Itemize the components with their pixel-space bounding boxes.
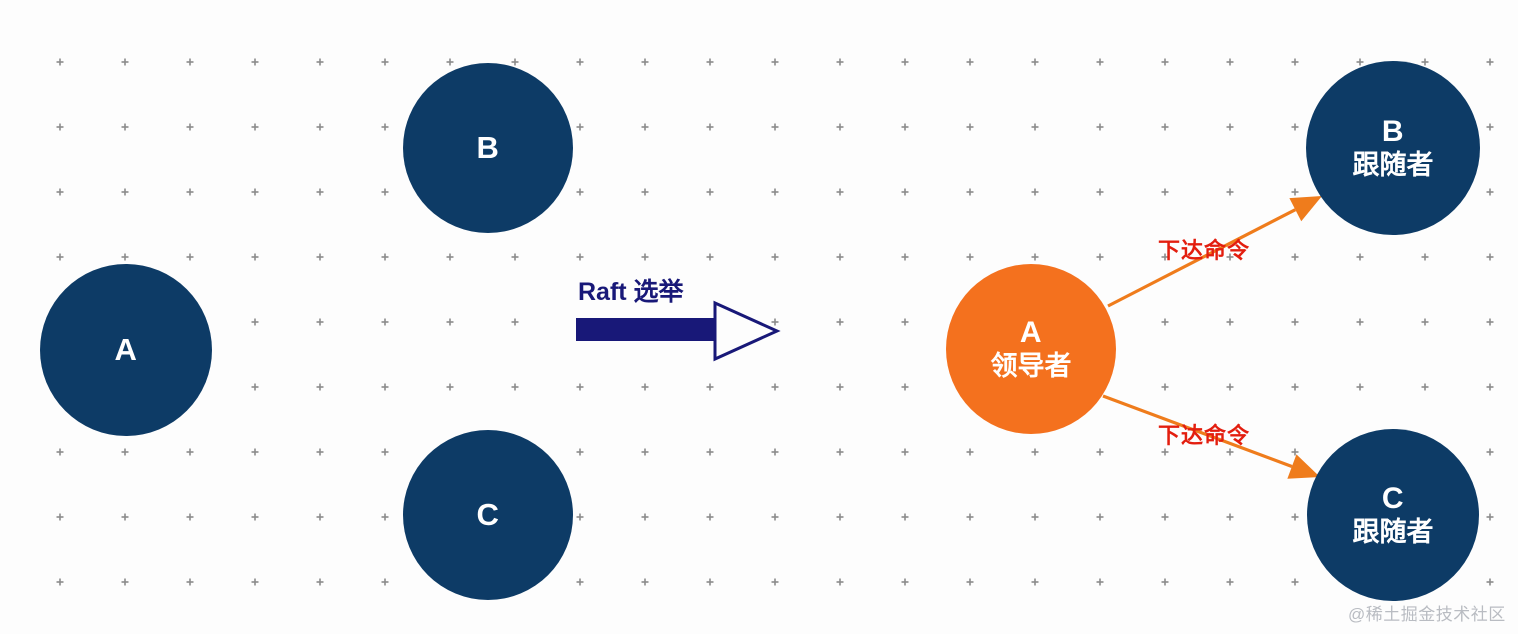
follower-node-b[interactable]: B跟随者: [1306, 61, 1480, 235]
edge-a-to-c-arrowhead: [1287, 454, 1320, 478]
leader-node-a[interactable]: A领导者: [946, 264, 1116, 434]
command-edge-layer: [0, 0, 1518, 634]
follower-node-b-role: 跟随者: [1353, 151, 1434, 180]
follower-node-c-role: 跟随者: [1353, 518, 1434, 547]
watermark-text: @稀土掘金技术社区: [1348, 600, 1506, 625]
leader-node-a-letter: A: [1020, 317, 1042, 349]
diagram-canvas: ABC Raft 选举 A领导者B跟随者C跟随者 下达命令下达命令 @稀土掘金技…: [0, 0, 1518, 634]
follower-node-b-letter: B: [1382, 116, 1404, 148]
edge-a-to-c-label: 下达命令: [1158, 418, 1250, 450]
edge-a-to-b-label: 下达命令: [1158, 233, 1250, 265]
leader-node-a-role: 领导者: [991, 352, 1072, 381]
follower-node-c-letter: C: [1382, 483, 1404, 515]
follower-node-c[interactable]: C跟随者: [1307, 429, 1479, 601]
